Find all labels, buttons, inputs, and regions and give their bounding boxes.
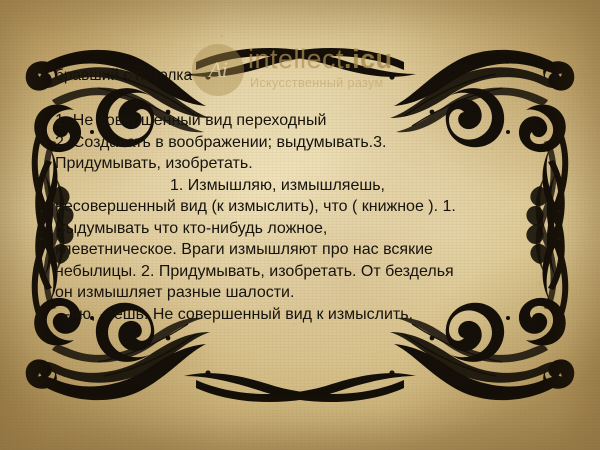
body-line: клеветническое. Враги измышляют про нас … bbox=[55, 239, 550, 261]
body-line: небылицы. 2. Придумывать, изобретать. От… bbox=[55, 261, 550, 283]
page-text: бравший с потолка 1. Не совершенный вид … bbox=[0, 0, 600, 450]
headline-text: бравший с потолка bbox=[55, 66, 192, 86]
scanned-page: Ai intellect.icu Искусственный разум бра… bbox=[0, 0, 600, 450]
body-line: 1. Измышляю, измышляешь, bbox=[55, 175, 550, 197]
body-line: 2. Создавать в воображении; выдумывать.3… bbox=[55, 132, 550, 154]
body-line: Придумывать, изобретать. bbox=[55, 153, 550, 175]
body-line: несовершенный вид (к измыслить), что ( к… bbox=[55, 196, 550, 218]
body-line: Выдумывать что кто-нибудь ложное, bbox=[55, 218, 550, 240]
body-line: 1. Не совершенный вид переходный bbox=[55, 110, 550, 132]
definition-body: 1. Не совершенный вид переходный 2. Созд… bbox=[55, 110, 550, 325]
body-line: он измышляет разные шалости. bbox=[55, 282, 550, 304]
body-line: -яю, -яешь. Не совершенный вид к измысли… bbox=[55, 304, 550, 326]
